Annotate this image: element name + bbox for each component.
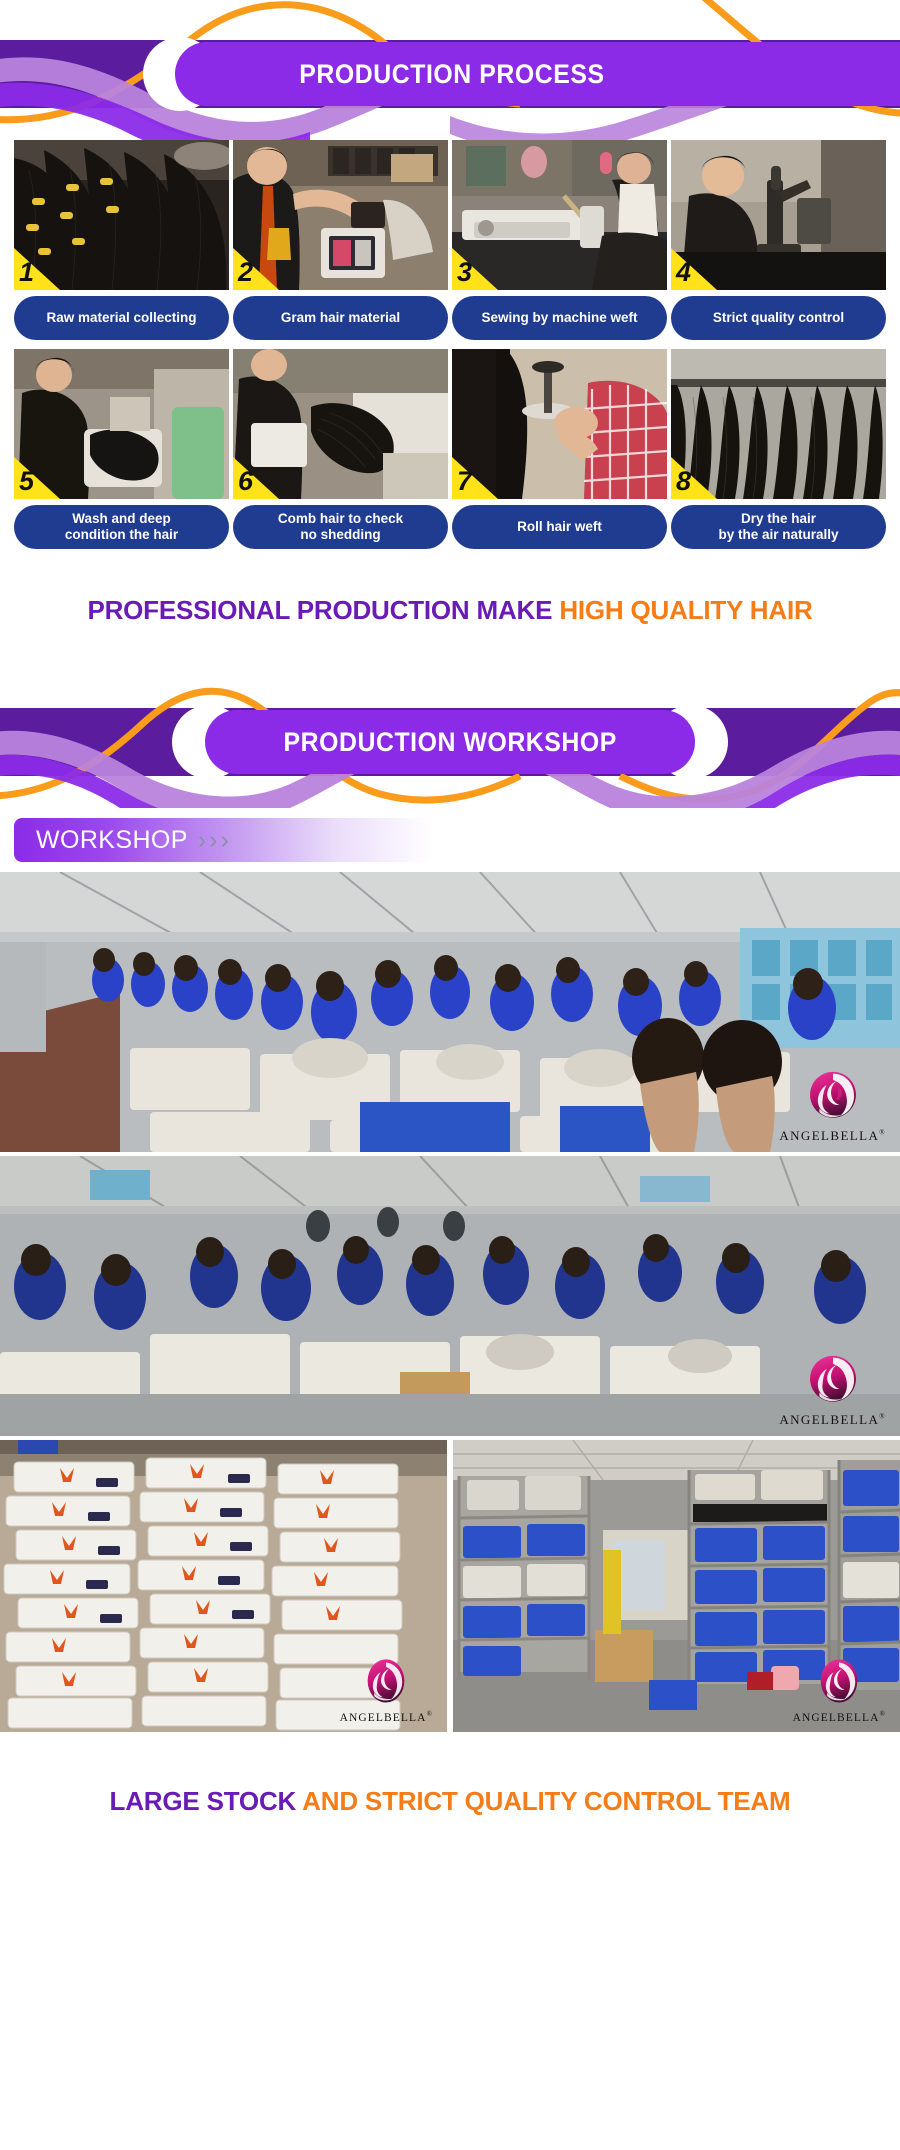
process-step-8: 8 Dry the hairby the air naturally bbox=[671, 349, 886, 549]
step-label: Dry the hairby the air naturally bbox=[671, 505, 886, 549]
banner-title: PRODUCTION PROCESS bbox=[299, 59, 604, 90]
watermark-angelbella: ANGELBELLA® bbox=[779, 1349, 886, 1428]
tagline-large-stock: LARGE STOCK AND STRICT QUALITY CONTROL T… bbox=[0, 1786, 900, 1817]
process-photo-microscope-inspection: 4 bbox=[671, 140, 886, 290]
angelbella-wordmark: ANGELBELLA® bbox=[779, 1412, 886, 1428]
workshop-photo-sewing-line-1: ANGELBELLA® bbox=[0, 872, 900, 1152]
process-row-2: 5 Wash and deepcondition the hair bbox=[14, 349, 886, 549]
step-number: 1 bbox=[19, 259, 34, 286]
angelbella-logo-icon bbox=[359, 1655, 413, 1709]
banner-production-workshop: PRODUCTION WORKSHOP bbox=[0, 668, 900, 808]
tagline-purple-text: PROFESSIONAL PRODUCTION MAKE bbox=[87, 595, 559, 625]
banner-title-pill: PRODUCTION PROCESS bbox=[175, 42, 900, 106]
banner-production-process: PRODUCTION PROCESS bbox=[0, 0, 900, 140]
production-process-grid: 1 Raw material collecting bbox=[0, 140, 900, 549]
step-label: Sewing by machine weft bbox=[452, 296, 667, 340]
step-number: 4 bbox=[676, 259, 691, 286]
workshop-photo-sewing-line-2: ANGELBELLA® bbox=[0, 1156, 900, 1436]
angelbella-logo-icon bbox=[812, 1655, 866, 1709]
process-step-4: 4 Strict quality control bbox=[671, 140, 886, 340]
angelbella-logo-icon bbox=[802, 1349, 864, 1411]
step-number: 6 bbox=[238, 468, 253, 495]
process-row-1: 1 Raw material collecting bbox=[14, 140, 886, 340]
watermark-angelbella: ANGELBELLA® bbox=[779, 1065, 886, 1144]
watermark-angelbella: ANGELBELLA® bbox=[793, 1655, 886, 1724]
step-number: 3 bbox=[457, 259, 472, 286]
angelbella-logo-icon bbox=[802, 1065, 864, 1127]
tagline-professional-production: PROFESSIONAL PRODUCTION MAKE HIGH QUALIT… bbox=[0, 595, 900, 626]
stock-photo-packaged-bundles: ANGELBELLA® bbox=[0, 1440, 447, 1732]
step-number: 2 bbox=[238, 259, 253, 286]
step-number: 5 bbox=[19, 468, 34, 495]
watermark-angelbella: ANGELBELLA® bbox=[340, 1655, 433, 1724]
process-step-6: 6 Comb hair to checkno shedding bbox=[233, 349, 448, 549]
angelbella-wordmark: ANGELBELLA® bbox=[793, 1710, 886, 1724]
banner-title-pill: PRODUCTION WORKSHOP bbox=[205, 710, 695, 774]
process-step-1: 1 Raw material collecting bbox=[14, 140, 229, 340]
process-step-2: 2 Gram hair material bbox=[233, 140, 448, 340]
step-number: 7 bbox=[457, 468, 472, 495]
step-label: Gram hair material bbox=[233, 296, 448, 340]
step-label: Comb hair to checkno shedding bbox=[233, 505, 448, 549]
step-number: 8 bbox=[676, 468, 691, 495]
process-photo-raw-hair-bundles: 1 bbox=[14, 140, 229, 290]
workshop-section-label: WORKSHOP ››› bbox=[14, 818, 434, 862]
process-photo-sewing-machine-weft: 3 bbox=[452, 140, 667, 290]
tagline-orange-text: HIGH QUALITY HAIR bbox=[559, 595, 812, 625]
tagline-purple-text: LARGE STOCK bbox=[110, 1786, 303, 1816]
workshop-label-text: WORKSHOP bbox=[36, 826, 188, 855]
process-photo-washing-hair-basin: 5 bbox=[14, 349, 229, 499]
angelbella-wordmark: ANGELBELLA® bbox=[340, 1710, 433, 1724]
step-label: Raw material collecting bbox=[14, 296, 229, 340]
process-photo-worker-weighing-hair: 2 bbox=[233, 140, 448, 290]
process-photo-combing-hair-check: 6 bbox=[233, 349, 448, 499]
banner-title: PRODUCTION WORKSHOP bbox=[283, 727, 616, 758]
process-step-7: 7 Roll hair weft bbox=[452, 349, 667, 549]
step-label: Strict quality control bbox=[671, 296, 886, 340]
tagline-orange-text: AND STRICT QUALITY CONTROL TEAM bbox=[302, 1786, 790, 1816]
step-label: Roll hair weft bbox=[452, 505, 667, 549]
step-label: Wash and deepcondition the hair bbox=[14, 505, 229, 549]
process-photo-rolling-hair-weft: 7 bbox=[452, 349, 667, 499]
stock-photo-warehouse-crates: ANGELBELLA® bbox=[453, 1440, 900, 1732]
stock-photo-row: ANGELBELLA® bbox=[0, 1440, 900, 1732]
angelbella-wordmark: ANGELBELLA® bbox=[779, 1128, 886, 1144]
process-photo-air-drying-hair: 8 bbox=[671, 349, 886, 499]
process-step-5: 5 Wash and deepcondition the hair bbox=[14, 349, 229, 549]
process-step-3: 3 Sewing by machine weft bbox=[452, 140, 667, 340]
chevron-right-icon: ››› bbox=[198, 826, 232, 855]
